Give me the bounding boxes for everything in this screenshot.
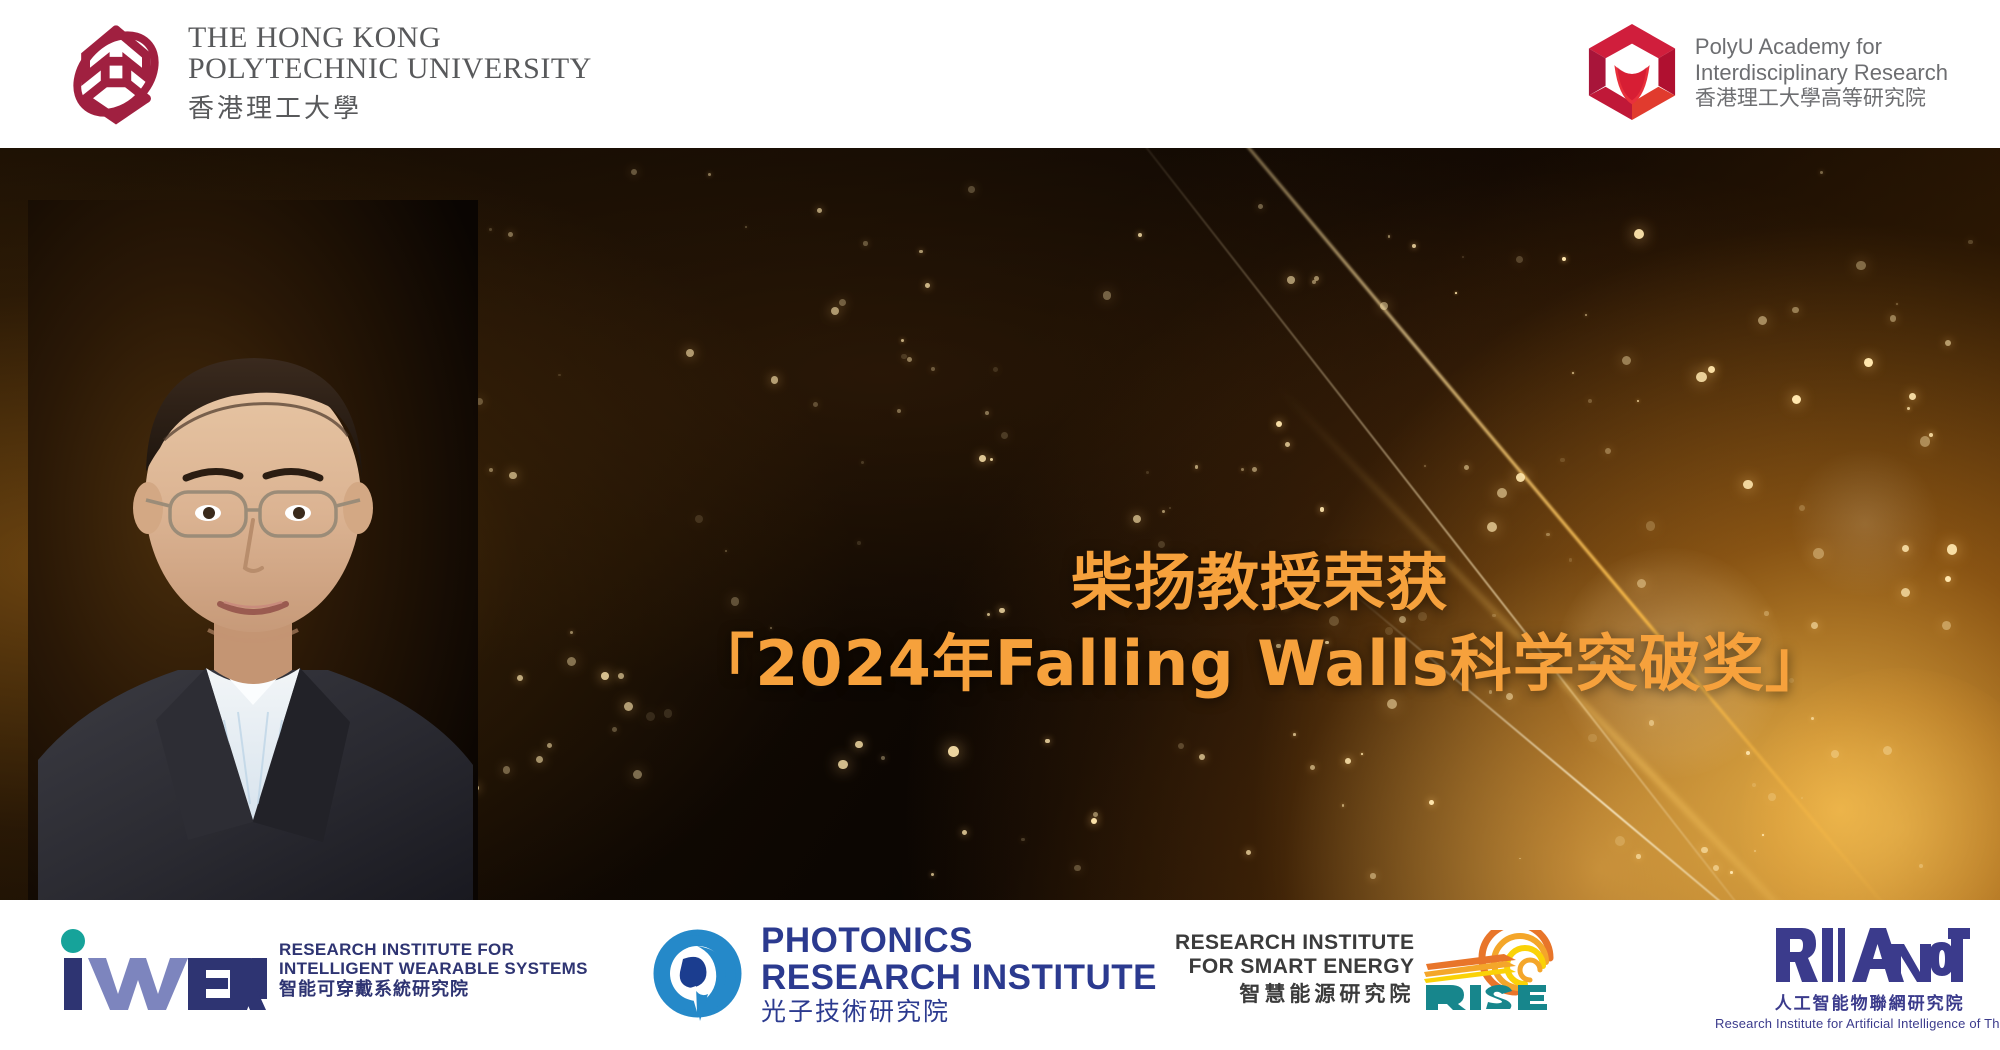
iwear-wordmark-icon <box>52 926 267 1014</box>
polyu-name-en-line2: POLYTECHNIC UNIVERSITY <box>188 54 592 85</box>
professor-portrait-illustration <box>28 200 478 900</box>
pair-name-en-line2: Interdisciplinary Research <box>1695 60 1948 86</box>
iwear-en-line1: RESEARCH INSTITUTE FOR <box>279 940 588 960</box>
rise-logo: RESEARCH INSTITUTE FOR SMART ENERGY 智慧能源… <box>1175 930 1582 1006</box>
iwear-logo: RESEARCH INSTITUTE FOR INTELLIGENT WEARA… <box>52 926 588 1014</box>
portrait-photo <box>28 200 478 900</box>
rise-en-line1: RESEARCH INSTITUTE <box>1175 931 1414 955</box>
rise-en-line2: FOR SMART ENERGY <box>1189 955 1415 979</box>
pair-hexagon-cube-icon <box>1585 22 1679 122</box>
footer-logo-bar: RESEARCH INSTITUTE FOR INTELLIGENT WEARA… <box>0 900 2000 1050</box>
photonics-en-line2: RESEARCH INSTITUTE <box>761 959 1157 996</box>
pair-logo: PolyU Academy for Interdisciplinary Rese… <box>1585 22 1948 122</box>
iwear-zh: 智能可穿戴系統研究院 <box>279 980 588 1001</box>
header-logo-bar: THE HONG KONG POLYTECHNIC UNIVERSITY 香港理… <box>0 0 2000 148</box>
riaiot-logo: 人工智能物聯網研究院 Research Institute for Artifi… <box>1715 924 2000 1031</box>
photonics-zh: 光子技術研究院 <box>761 999 1157 1026</box>
riaiot-wordmark-icon <box>1770 924 1970 986</box>
hero-title-line1: 柴扬教授荣获 <box>560 543 1960 624</box>
polyu-name-zh: 香港理工大學 <box>188 88 592 125</box>
pair-name-zh: 香港理工大學高等研究院 <box>1695 86 1948 111</box>
polyu-name-en-line1: THE HONG KONG <box>188 23 592 54</box>
polyu-knot-logo-icon <box>62 22 170 126</box>
pair-name-en-line1: PolyU Academy for <box>1695 34 1948 60</box>
riaiot-zh: 人工智能物聯網研究院 <box>1775 989 1965 1014</box>
iwear-en-line2: INTELLIGENT WEARABLE SYSTEMS <box>279 959 588 979</box>
riaiot-en-sub: Research Institute for Artificial Intell… <box>1715 1016 2000 1031</box>
photonics-en-line1: PHOTONICS <box>761 922 1157 959</box>
photonics-circle-p-icon <box>650 926 745 1021</box>
rise-zh: 智慧能源研究院 <box>1239 982 1414 1006</box>
polyu-logo: THE HONG KONG POLYTECHNIC UNIVERSITY 香港理… <box>62 22 592 126</box>
rise-sun-rays-icon <box>1420 930 1582 1010</box>
hero-title-line2: 「2024年Falling Walls科学突破奖」 <box>560 624 1960 705</box>
photonics-research-institute-logo: PHOTONICS RESEARCH INSTITUTE 光子技術研究院 <box>650 922 1157 1026</box>
poster-page: THE HONG KONG POLYTECHNIC UNIVERSITY 香港理… <box>0 0 2000 1050</box>
hero-banner: 柴扬教授荣获 「2024年Falling Walls科学突破奖」 <box>0 148 2000 900</box>
hero-title: 柴扬教授荣获 「2024年Falling Walls科学突破奖」 <box>560 543 1960 704</box>
